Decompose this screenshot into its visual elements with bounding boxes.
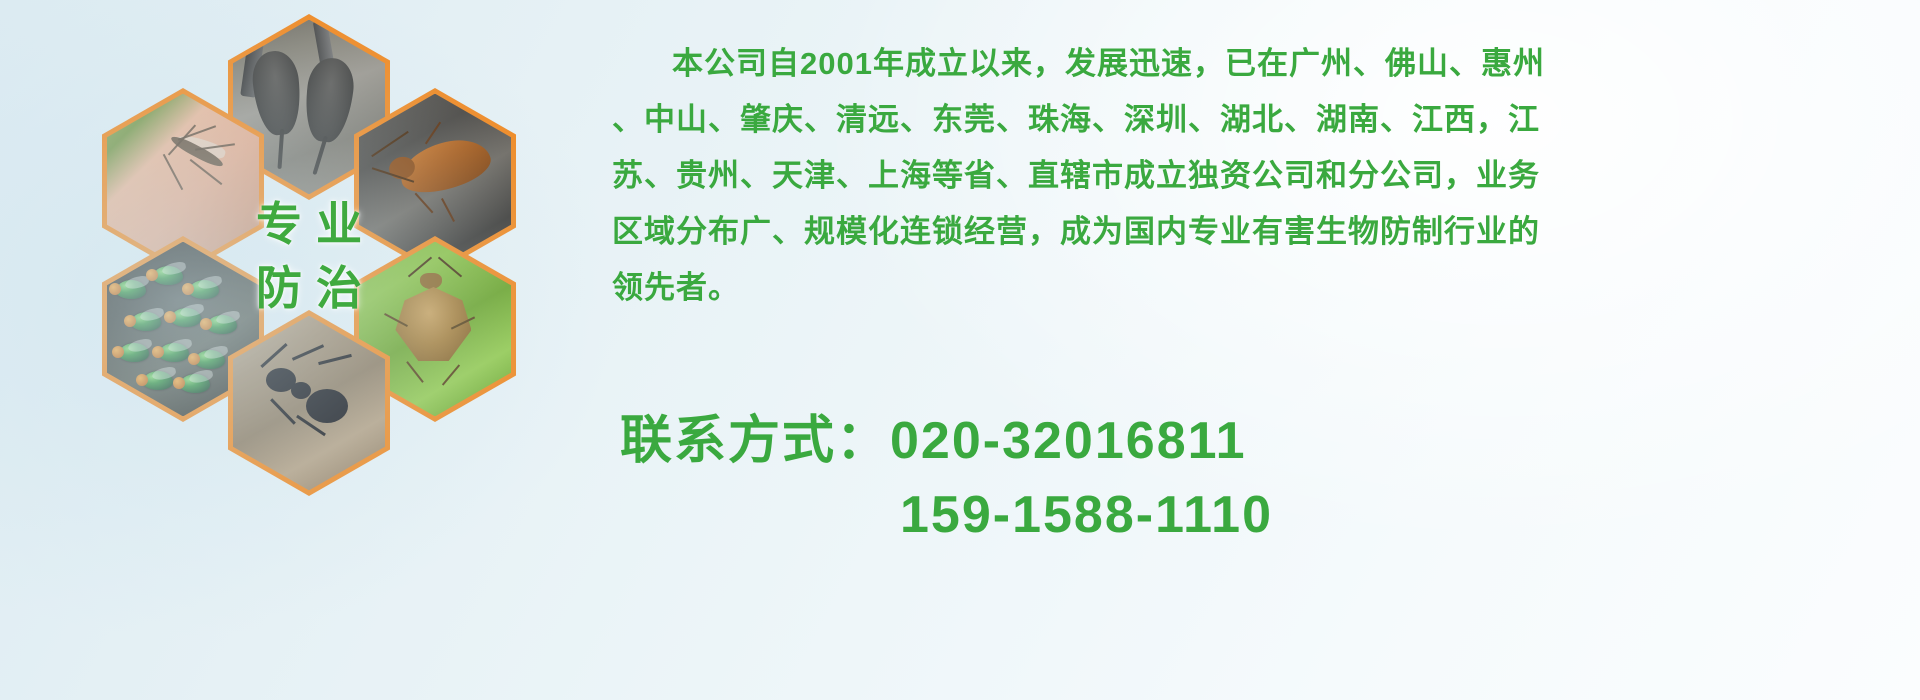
honeycomb-gallery: 专业 防治 xyxy=(78,0,598,580)
description-line: 区域分布广、规模化连锁经营，成为国内专业有害生物防制行业的 xyxy=(612,204,1912,260)
description-line: 、中山、肇庆、清远、东莞、珠海、深圳、湖北、湖南、江西，江 xyxy=(612,92,1912,148)
description-line: 苏、贵州、天津、上海等省、直辖市成立独资公司和分公司，业务 xyxy=(612,148,1912,204)
phone-secondary[interactable]: 159-1588-1110 xyxy=(900,486,1273,544)
company-description: 本公司自2001年成立以来，发展迅速，已在广州、佛山、惠州 、中山、肇庆、清远、… xyxy=(612,36,1912,316)
description-line: 本公司自2001年成立以来，发展迅速，已在广州、佛山、惠州 xyxy=(612,36,1912,92)
ant-photo-hex[interactable] xyxy=(228,310,390,496)
banner-root: 专业 防治 本公司自2001年成立以来，发展迅速，已在广州、佛山、惠州 、中山、… xyxy=(0,0,1920,700)
contact-label: 联系方式： xyxy=(620,412,890,470)
ant-photo xyxy=(233,316,385,491)
contact-primary-line: 联系方式：020-32016811 xyxy=(620,404,1273,478)
description-line: 领先者。 xyxy=(612,260,1912,316)
contact-block: 联系方式：020-32016811 159-1588-1110 xyxy=(620,404,1273,552)
hex-border xyxy=(228,310,390,496)
phone-primary[interactable]: 020-32016811 xyxy=(890,412,1247,470)
phone-secondary-line: 159-1588-1110 xyxy=(620,478,1273,552)
